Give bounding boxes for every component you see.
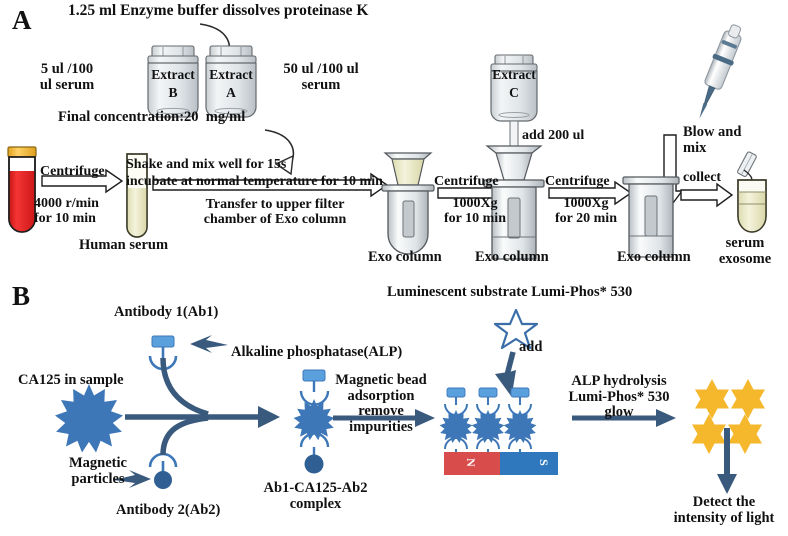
detect-label: Detect the intensity of light [660,495,788,526]
arrow-alp-to-ab1 [190,335,228,353]
pipette [689,22,747,123]
bottle-b-line2: B [150,86,196,101]
centrifuge-2-label: Centrifuge [434,174,499,189]
blow-and-mix-label: Blow and mix [683,125,741,156]
mix-step-line2: incubate at normal temperature for 10 mi… [126,174,383,189]
panel-a-letter: A [12,6,32,35]
luminescent-substrate-label: Luminescent substrate Lumi-Phos* 530 [387,285,632,301]
serum-exosome-label: serum exosome [704,236,786,267]
bottle-a-line1: Extract [208,68,254,83]
ca125-label: CA125 in sample [18,373,124,389]
arrow-collect [681,184,732,206]
hydrolysis-step-label: ALP hydrolysis Lumi-Phos* 530 glow [566,374,672,421]
mix-step-line1: Shake and mix well for 15s [126,157,286,172]
transfer-detail: Transfer to upper filter chamber of Exo … [160,197,390,227]
magnetic-particles-label: Magnetic particles [56,456,140,487]
ab1-ca125-ab2-complex [294,370,335,474]
antibody-2-label: Antibody 2(Ab2) [116,503,220,519]
panel-b-letter: B [12,282,30,311]
bottle-a-line2: A [208,86,254,101]
centrifuge-1-detail: 4000 r/min for 10 min [34,196,99,226]
centrifuge-3-label: Centrifuge [545,174,610,189]
right-dose-label: 50 ul /100 ul serum [256,62,386,93]
human-serum-label: Human serum [79,238,168,254]
antibody-2-free [150,454,176,489]
alp-label: Alkaline phosphatase(ALP) [231,345,402,361]
complex-label: Ab1-CA125-Ab2 complex [248,481,383,512]
magnet-north-label: N [464,458,477,467]
ca125-starburst [55,384,123,453]
bottle-b-line1: Extract [150,68,196,83]
left-dose-label: 5 ul /100 ul serum [12,62,122,93]
exo-column-3 [623,177,679,257]
antibody-1-label: Antibody 1(Ab1) [114,305,218,321]
bottle-c-line2: C [492,86,536,101]
serum-exosome-tube [737,151,766,232]
adsorption-step-label: Magnetic bead adsorption remove impuriti… [334,373,428,436]
add-200ul-label: add 200 ul [522,128,584,143]
centrifuge-3-detail: 1000Xg for 20 min [543,196,629,226]
centrifuge-1-label: Centrifuge [40,164,105,179]
add-label: add [519,340,542,356]
arrow-converge-to-complex [125,358,280,455]
enzyme-buffer-title: 1.25 ml Enzyme buffer dissolves proteina… [68,3,368,20]
figure-root: A B 1.25 ml Enzyme buffer dissolves prot… [0,0,788,536]
final-concentration-label: Final concentration:20 mg/ml [58,110,245,126]
centrifuge-2-detail: 1000Xg for 10 min [432,196,518,226]
collect-label: collect [683,170,721,185]
exo-column-2-label: Exo column [475,250,549,266]
bottle-c-line1: Extract [492,68,536,83]
blood-tube [8,147,36,232]
magnet-south-label: S [537,459,550,466]
exo-column-1-label: Exo column [368,250,442,266]
exo-column-3-label: Exo column [617,250,691,266]
